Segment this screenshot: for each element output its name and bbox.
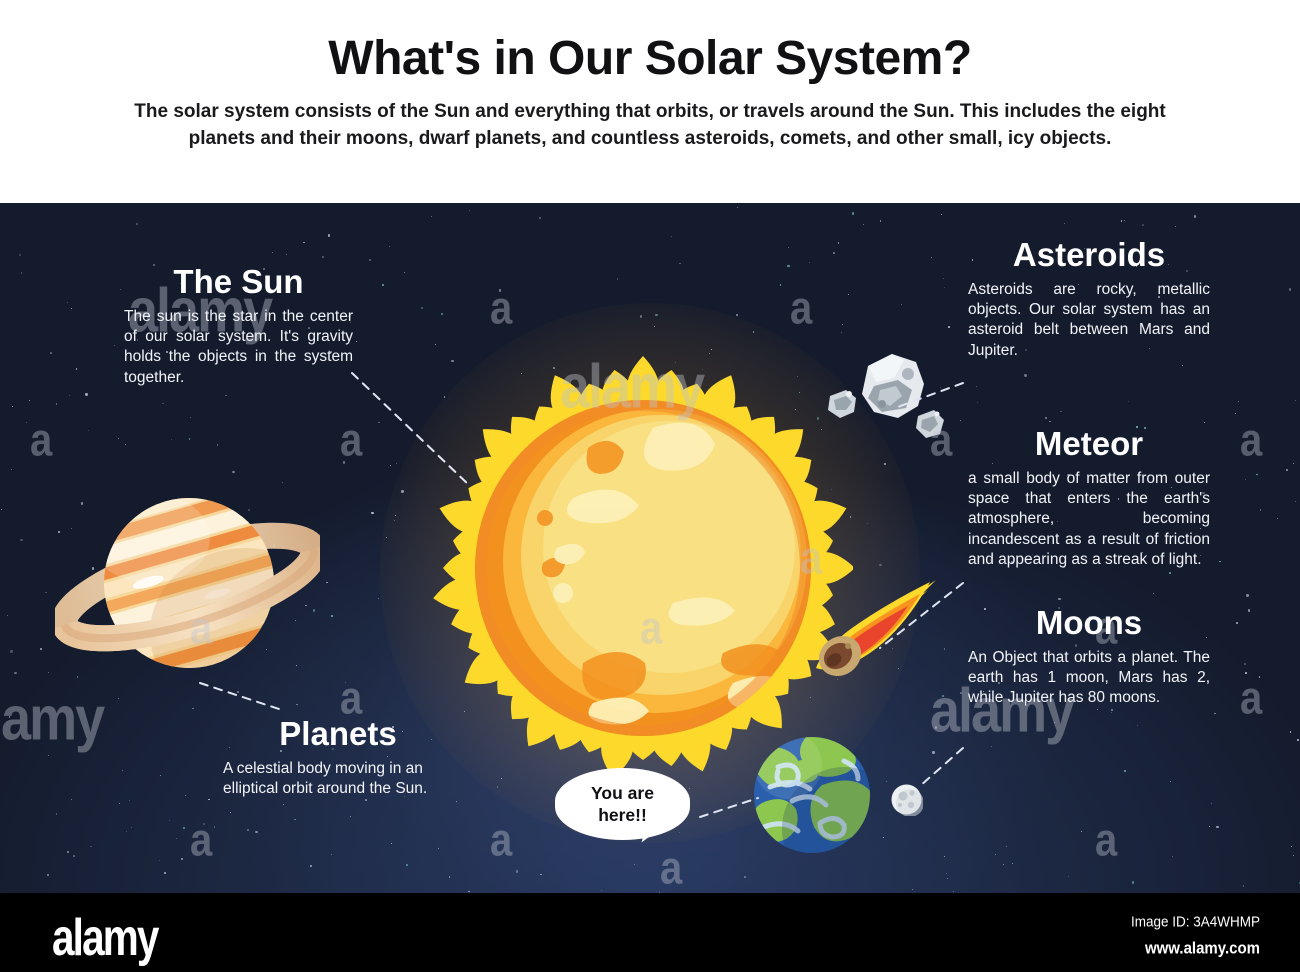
heading-the-sun: The Sun — [124, 265, 353, 300]
label-block-meteor: Meteor a small body of matter from outer… — [968, 427, 1210, 570]
earth-icon — [748, 731, 876, 859]
watermark-letter: a — [1095, 815, 1117, 867]
footer-bar: alamy Image ID: 3A4WHMP www.alamy.com — [0, 893, 1300, 972]
saturn-planet-icon — [55, 483, 320, 698]
watermark-letter: a — [30, 415, 52, 467]
alamy-url-text[interactable]: www.alamy.com — [1131, 939, 1260, 958]
watermark-letter: a — [790, 283, 812, 335]
watermark-letter: a — [490, 283, 512, 335]
callout-line-1: You are — [555, 782, 690, 804]
asteroid-cluster-icon — [820, 348, 965, 463]
body-meteor: a small body of matter from outer space … — [968, 469, 1210, 570]
callout-you-are-here: You are here!! — [555, 768, 690, 840]
infographic-page: What's in Our Solar System? The solar sy… — [0, 0, 1300, 972]
label-block-asteroids: Asteroids Asteroids are rocky, metallic … — [968, 238, 1210, 361]
watermark-letter: a — [660, 843, 682, 893]
header: What's in Our Solar System? The solar sy… — [0, 0, 1300, 203]
body-the-sun: The sun is the star in the center of our… — [124, 307, 353, 388]
heading-planets: Planets — [223, 717, 453, 752]
heading-asteroids: Asteroids — [968, 238, 1210, 273]
watermark-letter: a — [340, 415, 362, 467]
meteor-icon — [808, 578, 938, 678]
callout-line-2: here!! — [555, 804, 690, 826]
heading-moons: Moons — [968, 606, 1210, 641]
label-block-sun: The Sun The sun is the star in the cente… — [124, 265, 353, 388]
space-scene: alamyalamyalamyalamyaaaaaaaaaaaaaaaa The… — [0, 203, 1300, 893]
body-asteroids: Asteroids are rocky, metallic objects. O… — [968, 280, 1210, 361]
watermark-letter: a — [190, 815, 212, 867]
image-id-text: Image ID: 3A4WHMP — [1131, 913, 1260, 930]
page-title: What's in Our Solar System? — [328, 34, 971, 84]
watermark-letter: a — [1240, 415, 1262, 467]
moon-icon — [890, 783, 923, 816]
body-planets: A celestial body moving in an elliptical… — [223, 759, 453, 800]
alamy-logo[interactable]: alamy — [52, 909, 158, 968]
body-moons: An Object that orbits a planet. The eart… — [968, 648, 1210, 709]
heading-meteor: Meteor — [968, 427, 1210, 462]
watermark-letter: a — [490, 815, 512, 867]
label-block-moons: Moons An Object that orbits a planet. Th… — [968, 606, 1210, 709]
watermark-letter: a — [1240, 673, 1262, 725]
footer-meta: Image ID: 3A4WHMP www.alamy.com — [1131, 913, 1260, 956]
label-block-planets: Planets A celestial body moving in an el… — [223, 717, 453, 799]
page-subtitle: The solar system consists of the Sun and… — [100, 99, 1200, 153]
connector-moons — [920, 748, 963, 786]
